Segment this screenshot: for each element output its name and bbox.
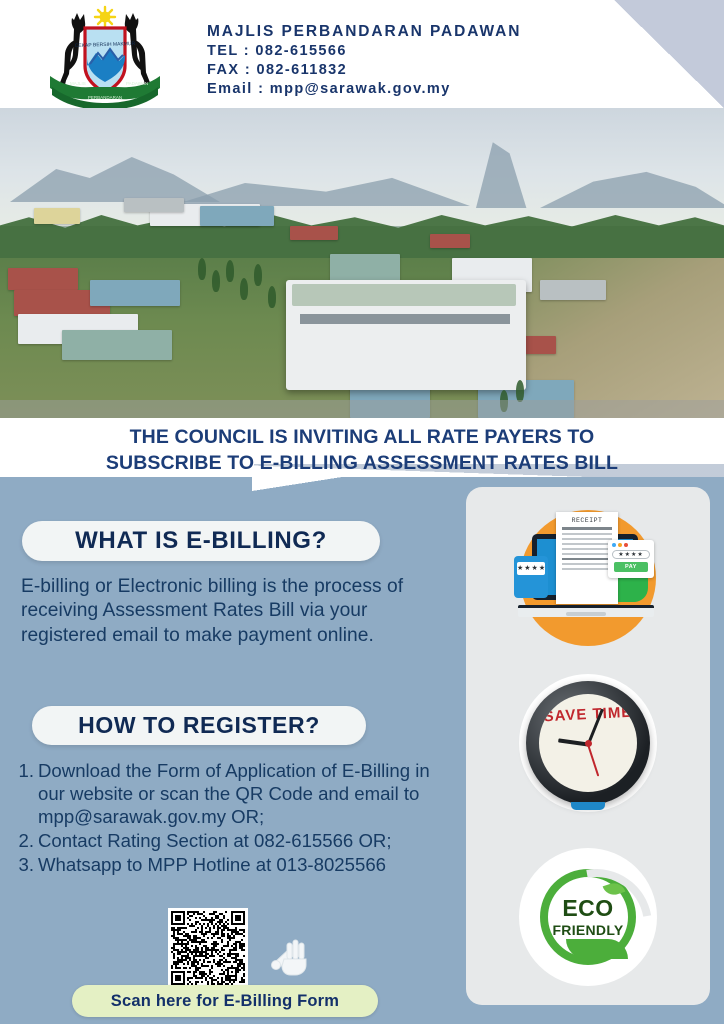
step-number: 1. bbox=[17, 759, 38, 782]
step-text: Whatsapp to MPP Hotline at 013-8025566 bbox=[38, 853, 447, 876]
step-number: 2. bbox=[17, 829, 38, 852]
scan-here-button[interactable]: Scan here for E-Billing Form bbox=[72, 985, 378, 1017]
building-block bbox=[290, 226, 338, 240]
building-block bbox=[330, 254, 400, 282]
building-block bbox=[34, 208, 80, 224]
eco-label-top: ECO bbox=[562, 897, 613, 920]
receipt-divider bbox=[562, 558, 612, 561]
fax-line: FAX : 082-611832 bbox=[207, 61, 521, 80]
payment-card-icon: ★★★★ bbox=[514, 556, 548, 598]
tree bbox=[240, 278, 248, 300]
receipt-line bbox=[562, 538, 612, 540]
tree bbox=[268, 286, 276, 308]
banner-line-1: THE COUNCIL IS INVITING ALL RATE PAYERS … bbox=[0, 425, 724, 451]
pointing-hand-icon bbox=[268, 933, 310, 977]
list-item: 1. Download the Form of Application of E… bbox=[17, 759, 447, 828]
clock-face: SAVE TIME bbox=[539, 694, 637, 792]
building-block bbox=[124, 198, 184, 212]
laptop-base bbox=[518, 605, 654, 617]
municipal-council-building bbox=[286, 280, 526, 390]
telephone-line: TEL : 082-615566 bbox=[207, 42, 521, 61]
tree bbox=[254, 264, 262, 286]
window-dot bbox=[624, 543, 628, 547]
clock-white-backdrop: SAVE TIME bbox=[519, 674, 657, 812]
eco-white-backdrop: ECO FRIENDLY bbox=[519, 848, 657, 986]
banner-heading: THE COUNCIL IS INVITING ALL RATE PAYERS … bbox=[0, 425, 724, 476]
window-controls bbox=[608, 540, 654, 547]
majlis-perbandaran-padawan-coat-of-arms: CEKAP BERSIH MAKMUR MAJLIS PADAWAN PERBA… bbox=[30, 4, 180, 108]
window-dot bbox=[612, 543, 616, 547]
online-payment-receipt-illustration: ★★★★ RECEIPT bbox=[466, 495, 710, 665]
tree bbox=[226, 260, 234, 282]
email-line: Email : mpp@sarawak.gov.my bbox=[207, 80, 521, 99]
eco-label-bottom: FRIENDLY bbox=[552, 922, 623, 938]
tree bbox=[198, 258, 206, 280]
svg-text:PERBANDARAN: PERBANDARAN bbox=[88, 95, 122, 100]
registration-steps-list: 1. Download the Form of Application of E… bbox=[17, 759, 447, 877]
tree bbox=[516, 380, 524, 402]
step-text: Contact Rating Section at 082-615566 OR; bbox=[38, 829, 447, 852]
leaf-icon bbox=[566, 939, 628, 959]
eco-ring: ECO FRIENDLY bbox=[540, 869, 636, 965]
banner-line-2: SUBSCRIBE TO E-BILLING ASSESSMENT RATES … bbox=[0, 451, 724, 477]
svg-text:MAJLIS: MAJLIS bbox=[70, 81, 86, 86]
eco-friendly-badge-icon: ECO FRIENDLY bbox=[466, 829, 710, 1005]
what-is-ebilling-body: E-billing or Electronic billing is the p… bbox=[21, 575, 445, 648]
building-block bbox=[62, 330, 172, 360]
receipt-line bbox=[562, 543, 612, 545]
receipt-line bbox=[562, 568, 612, 570]
receipt-line bbox=[562, 533, 612, 535]
save-time-label: SAVE TIME bbox=[539, 703, 637, 725]
payment-browser-window: ★★★★ PAY bbox=[608, 540, 654, 578]
receipt-divider bbox=[562, 527, 612, 530]
benefits-panel: ★★★★ RECEIPT bbox=[466, 487, 710, 1005]
page-header: CEKAP BERSIH MAKMUR MAJLIS PADAWAN PERBA… bbox=[0, 0, 724, 108]
hero-photo bbox=[0, 108, 724, 418]
road bbox=[0, 400, 724, 418]
receipt-line bbox=[562, 553, 612, 555]
receipt-line bbox=[562, 548, 612, 550]
building-block bbox=[200, 206, 274, 226]
tree bbox=[212, 270, 220, 292]
leaf-icon bbox=[603, 880, 626, 898]
qr-code-e-billing-form[interactable] bbox=[168, 908, 248, 988]
header-contact-block: MAJLIS PERBANDARAN PADAWAN TEL : 082-615… bbox=[207, 22, 521, 99]
pay-button: PAY bbox=[614, 562, 648, 572]
receipt-title: RECEIPT bbox=[556, 517, 618, 524]
step-text: Download the Form of Application of E-Bi… bbox=[38, 759, 447, 828]
clock-stand bbox=[571, 802, 605, 810]
list-item: 2. Contact Rating Section at 082-615566 … bbox=[17, 829, 447, 852]
content-notch-decoration bbox=[252, 477, 342, 491]
invitation-banner: THE COUNCIL IS INVITING ALL RATE PAYERS … bbox=[0, 418, 724, 480]
clock-bezel: SAVE TIME bbox=[526, 681, 650, 805]
building-block bbox=[430, 234, 470, 248]
window-dot bbox=[618, 543, 622, 547]
building-block bbox=[540, 280, 606, 300]
clock-pivot bbox=[585, 740, 592, 747]
sky-layer bbox=[0, 108, 724, 226]
step-number: 3. bbox=[17, 853, 38, 876]
list-item: 3. Whatsapp to MPP Hotline at 013-802556… bbox=[17, 853, 447, 876]
clock-hour-hand bbox=[558, 739, 588, 747]
password-field-mask: ★★★★ bbox=[612, 550, 650, 559]
how-to-register-heading: HOW TO REGISTER? bbox=[32, 706, 366, 745]
svg-text:PADAWAN: PADAWAN bbox=[126, 81, 148, 86]
clock-second-hand bbox=[587, 744, 599, 777]
poster-root: CEKAP BERSIH MAKMUR MAJLIS PADAWAN PERBA… bbox=[0, 0, 724, 1024]
header-corner-decoration bbox=[614, 0, 724, 108]
save-time-clock-icon: SAVE TIME bbox=[466, 657, 710, 829]
organization-name: MAJLIS PERBANDARAN PADAWAN bbox=[207, 22, 521, 42]
building-block bbox=[90, 280, 180, 306]
receipt-line bbox=[562, 563, 612, 565]
what-is-ebilling-heading: WHAT IS E-BILLING? bbox=[22, 521, 380, 561]
building-block bbox=[8, 268, 78, 290]
card-number-mask: ★★★★ bbox=[517, 562, 545, 575]
